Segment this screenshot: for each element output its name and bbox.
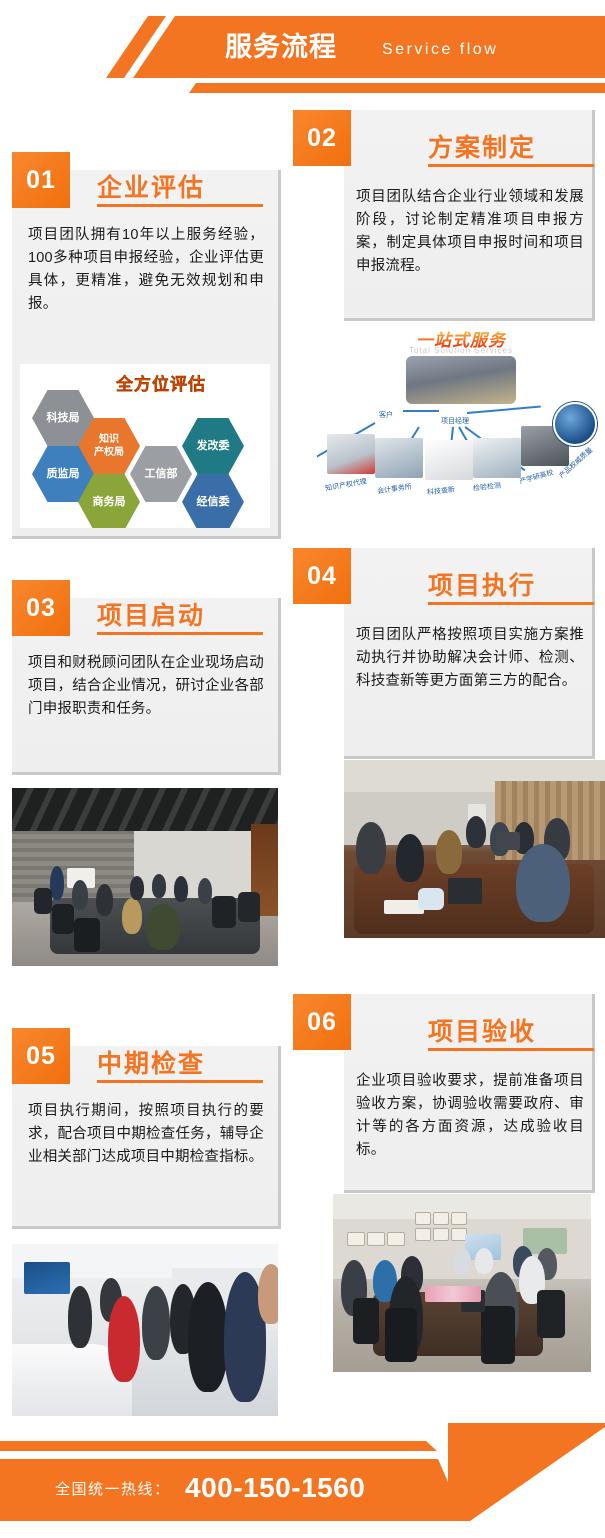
- photo-03-person-2: [96, 884, 113, 916]
- photo-03-chair-3: [74, 918, 100, 952]
- photo-06-certificate-1: [347, 1232, 365, 1246]
- card-04-body: 项目团队严格按照项目实施方案推动执行并协助解决会计师、检测、科技查新等更方面第三…: [356, 624, 584, 693]
- photo-06-chair-2: [385, 1308, 417, 1362]
- card-03-title: 项目启动: [97, 596, 205, 632]
- card-01-hex-graphic: 全方位评估 科技局 知识产权局 质监局 商务局 工信部 发改委 经信委: [20, 364, 270, 528]
- card-01-number-badge: 01: [12, 152, 70, 208]
- photo-03-person-1: [72, 880, 88, 910]
- onestop-quality-seal-icon: [553, 402, 597, 446]
- card-05-title-rule: [97, 1080, 263, 1083]
- onestop-arrow-2: [467, 406, 541, 414]
- card-04-photo: [344, 760, 605, 938]
- card-06-photo: [333, 1194, 591, 1372]
- photo-06-chair-4: [537, 1290, 565, 1338]
- photo-06-certificate-5: [433, 1212, 449, 1225]
- onestop-thumb-search: [425, 440, 473, 480]
- card-06-number-badge: 06: [293, 994, 351, 1050]
- card-06-body: 企业项目验收要求，提前准备项目验收方案，协调验收需要政府、审计等的各方面资源，达…: [356, 1070, 584, 1162]
- card-05-title: 中期检查: [97, 1044, 205, 1080]
- card-01-body: 项目团队拥有10年以上服务经验，100多种项目申报经验，企业评估更具体，更精准，…: [28, 224, 264, 316]
- photo-04-person-8: [516, 844, 570, 922]
- photo-06-flowers: [425, 1286, 481, 1302]
- photo-03-ceiling: [12, 788, 278, 834]
- photo-04-person-4: [466, 816, 486, 848]
- hotline-phone[interactable]: 400-150-1560: [185, 1470, 365, 1506]
- photo-06-certificate-4: [415, 1212, 431, 1225]
- card-04-number-badge: 04: [293, 548, 351, 604]
- photo-06-certificate-2: [367, 1232, 385, 1246]
- photo-04-laptop-2: [496, 832, 520, 850]
- photo-03-person-8: [198, 878, 212, 904]
- photo-03-chair-2: [52, 904, 74, 934]
- photo-06-certificate-8: [433, 1228, 449, 1241]
- card-06-title-rule: [428, 1048, 594, 1051]
- photo-06-certificate-7: [415, 1228, 431, 1241]
- card-05: 05 中期检查 项目执行期间，按照项目执行的要求，配合项目中期检查任务，辅导企业…: [12, 1028, 284, 1420]
- card-03-title-rule: [97, 632, 263, 635]
- onestop-thumb-testing: [473, 438, 521, 478]
- photo-06-chair-3: [481, 1306, 515, 1364]
- photo-03-person-7: [174, 876, 188, 902]
- page-subtitle: Service flow: [382, 38, 498, 62]
- photo-05-person-1: [68, 1286, 92, 1348]
- photo-05-person-5: [188, 1282, 228, 1392]
- onestop-hero-photo: [406, 356, 516, 404]
- card-02-onestop-graphic: 一站式服务 Total Solution Services 客户 项目经理 知识…: [317, 322, 605, 518]
- photo-06-certificate-6: [451, 1212, 467, 1225]
- photo-05-person-3: [142, 1286, 170, 1360]
- photo-03-person-4: [146, 904, 180, 950]
- photo-04-person-3: [436, 830, 462, 874]
- photo-05-display-wall: [24, 1262, 70, 1294]
- photo-06-chair-1: [353, 1298, 379, 1344]
- card-03: 03 项目启动 项目和财税顾问团队在企业现场启动项目，结合企业情况，研讨企业各部…: [12, 580, 284, 980]
- card-03-body: 项目和财税顾问团队在企业现场启动项目，结合企业情况，研讨企业各部门申报职责和任务…: [28, 652, 264, 721]
- photo-06-person-5: [453, 1248, 471, 1276]
- card-02-title-rule: [428, 164, 594, 167]
- hex-graphic-title: 全方位评估: [116, 370, 206, 395]
- onestop-node-0: 知识产权代理: [324, 476, 367, 493]
- card-06-title: 项目验收: [428, 1012, 536, 1048]
- photo-04-bag: [418, 888, 444, 910]
- photo-04-laptop-1: [448, 878, 482, 904]
- card-03-number-badge: 03: [12, 580, 70, 636]
- card-01-title: 企业评估: [97, 168, 205, 204]
- card-02: 02 方案制定 项目团队结合企业行业领域和发展阶段，讨论制定精准项目申报方案，制…: [293, 110, 605, 520]
- onestop-node-2: 科技查新: [427, 485, 456, 498]
- onestop-node-3: 检验检测: [473, 481, 502, 494]
- card-05-photo: [12, 1244, 278, 1416]
- photo-04-person-1: [356, 822, 386, 874]
- photo-04-person-2: [396, 834, 424, 882]
- card-05-body: 项目执行期间，按照项目执行的要求，配合项目中期检查任务，辅导企业相关部门达成项目…: [28, 1100, 264, 1169]
- photo-03-person-3: [122, 898, 142, 934]
- onestop-thumb-ip: [327, 434, 375, 474]
- onestop-client-label: 客户: [379, 410, 393, 420]
- photo-03-chair-1: [34, 888, 52, 914]
- card-02-number-badge: 02: [293, 110, 351, 166]
- photo-03-chair-5: [238, 892, 260, 922]
- card-06: 06 项目验收 企业项目验收要求，提前准备项目验收方案，协调验收需要政府、审计等…: [293, 994, 605, 1380]
- hotline-label: 全国统一热线：: [55, 1478, 171, 1502]
- card-01: 01 企业评估 项目团队拥有10年以上服务经验，100多种项目申报经验，企业评估…: [12, 152, 284, 542]
- onestop-node-1: 会计事务所: [376, 482, 412, 497]
- card-01-title-rule: [97, 204, 263, 207]
- onestop-arrow-1: [403, 410, 439, 412]
- card-02-body: 项目团队结合企业行业领域和发展阶段，讨论制定精准项目申报方案，制定具体项目申报时…: [356, 186, 584, 278]
- photo-03-person-6: [152, 874, 166, 898]
- card-04: 04 项目执行 项目团队严格按照项目实施方案推动执行并协助解决会计师、检测、科技…: [293, 548, 605, 948]
- photo-06-person-6: [475, 1248, 493, 1274]
- card-03-photo: [12, 788, 278, 966]
- page-footer: 全国统一热线： 400-150-1560: [0, 1403, 605, 1538]
- card-02-title: 方案制定: [428, 128, 536, 164]
- photo-03-chair-4: [212, 896, 236, 928]
- onestop-subtitle: Total Solution Services: [409, 346, 513, 355]
- photo-05-person-red: [108, 1296, 140, 1382]
- card-05-number-badge: 05: [12, 1028, 70, 1084]
- photo-05-person-7: [258, 1264, 278, 1324]
- hex-gongxin-bu: 工信部: [130, 446, 192, 502]
- card-04-title: 项目执行: [428, 566, 536, 602]
- onestop-thumb-accounting: [375, 438, 423, 478]
- photo-03-person-presenter: [50, 866, 64, 900]
- hex-fagai-wei: 发改委: [182, 418, 244, 474]
- onestop-center-label: 项目经理: [441, 416, 469, 426]
- photo-03-person-5: [130, 876, 144, 900]
- card-04-title-rule: [428, 602, 594, 605]
- hex-jingxin-wei: 经信委: [182, 474, 244, 528]
- page-title: 服务流程: [225, 27, 337, 67]
- page-header: 服务流程 Service flow: [0, 0, 605, 100]
- photo-06-certificate-3: [387, 1232, 405, 1246]
- header-underline-bar: [0, 83, 605, 93]
